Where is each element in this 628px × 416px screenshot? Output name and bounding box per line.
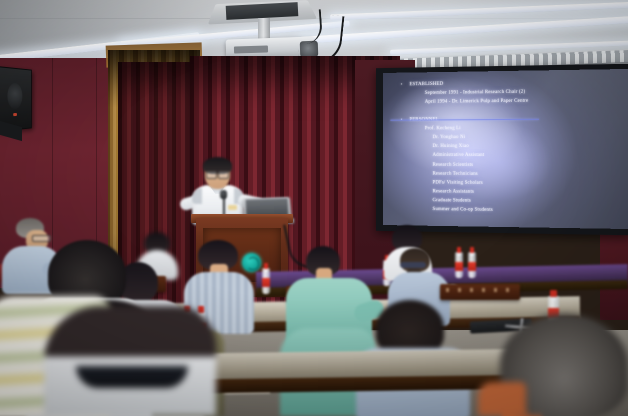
projection-screen: ESTABLISHED September 1991 - Industrial … — [383, 69, 628, 229]
projector-mount-pole — [258, 18, 270, 40]
slide-content: ESTABLISHED September 1991 - Industrial … — [396, 77, 627, 216]
water-bottle — [455, 252, 463, 278]
teal-institution-emblem — [242, 253, 261, 272]
water-bottle — [468, 252, 476, 278]
slide-line: Dr. Huining Xiao — [396, 142, 627, 151]
projector-vent — [234, 45, 268, 53]
slide-line: Dr. Yonghao Ni — [396, 133, 627, 143]
speaker-led — [13, 113, 17, 116]
person-shoulder — [478, 382, 526, 416]
speaker-cone — [7, 83, 22, 110]
shirt-collar — [76, 366, 188, 388]
presenter-pocket — [228, 205, 237, 210]
eyeglasses-icon — [206, 171, 229, 177]
microphone-icon — [220, 190, 227, 199]
lecture-hall-photo: ESTABLISHED September 1991 - Industrial … — [0, 0, 628, 416]
water-bottle — [262, 268, 270, 294]
presenter-shirt-trim — [192, 188, 202, 204]
seat-back — [440, 284, 520, 300]
person-foreground — [44, 306, 216, 416]
hair-tie — [400, 262, 426, 268]
eyeglasses-icon — [32, 235, 51, 242]
